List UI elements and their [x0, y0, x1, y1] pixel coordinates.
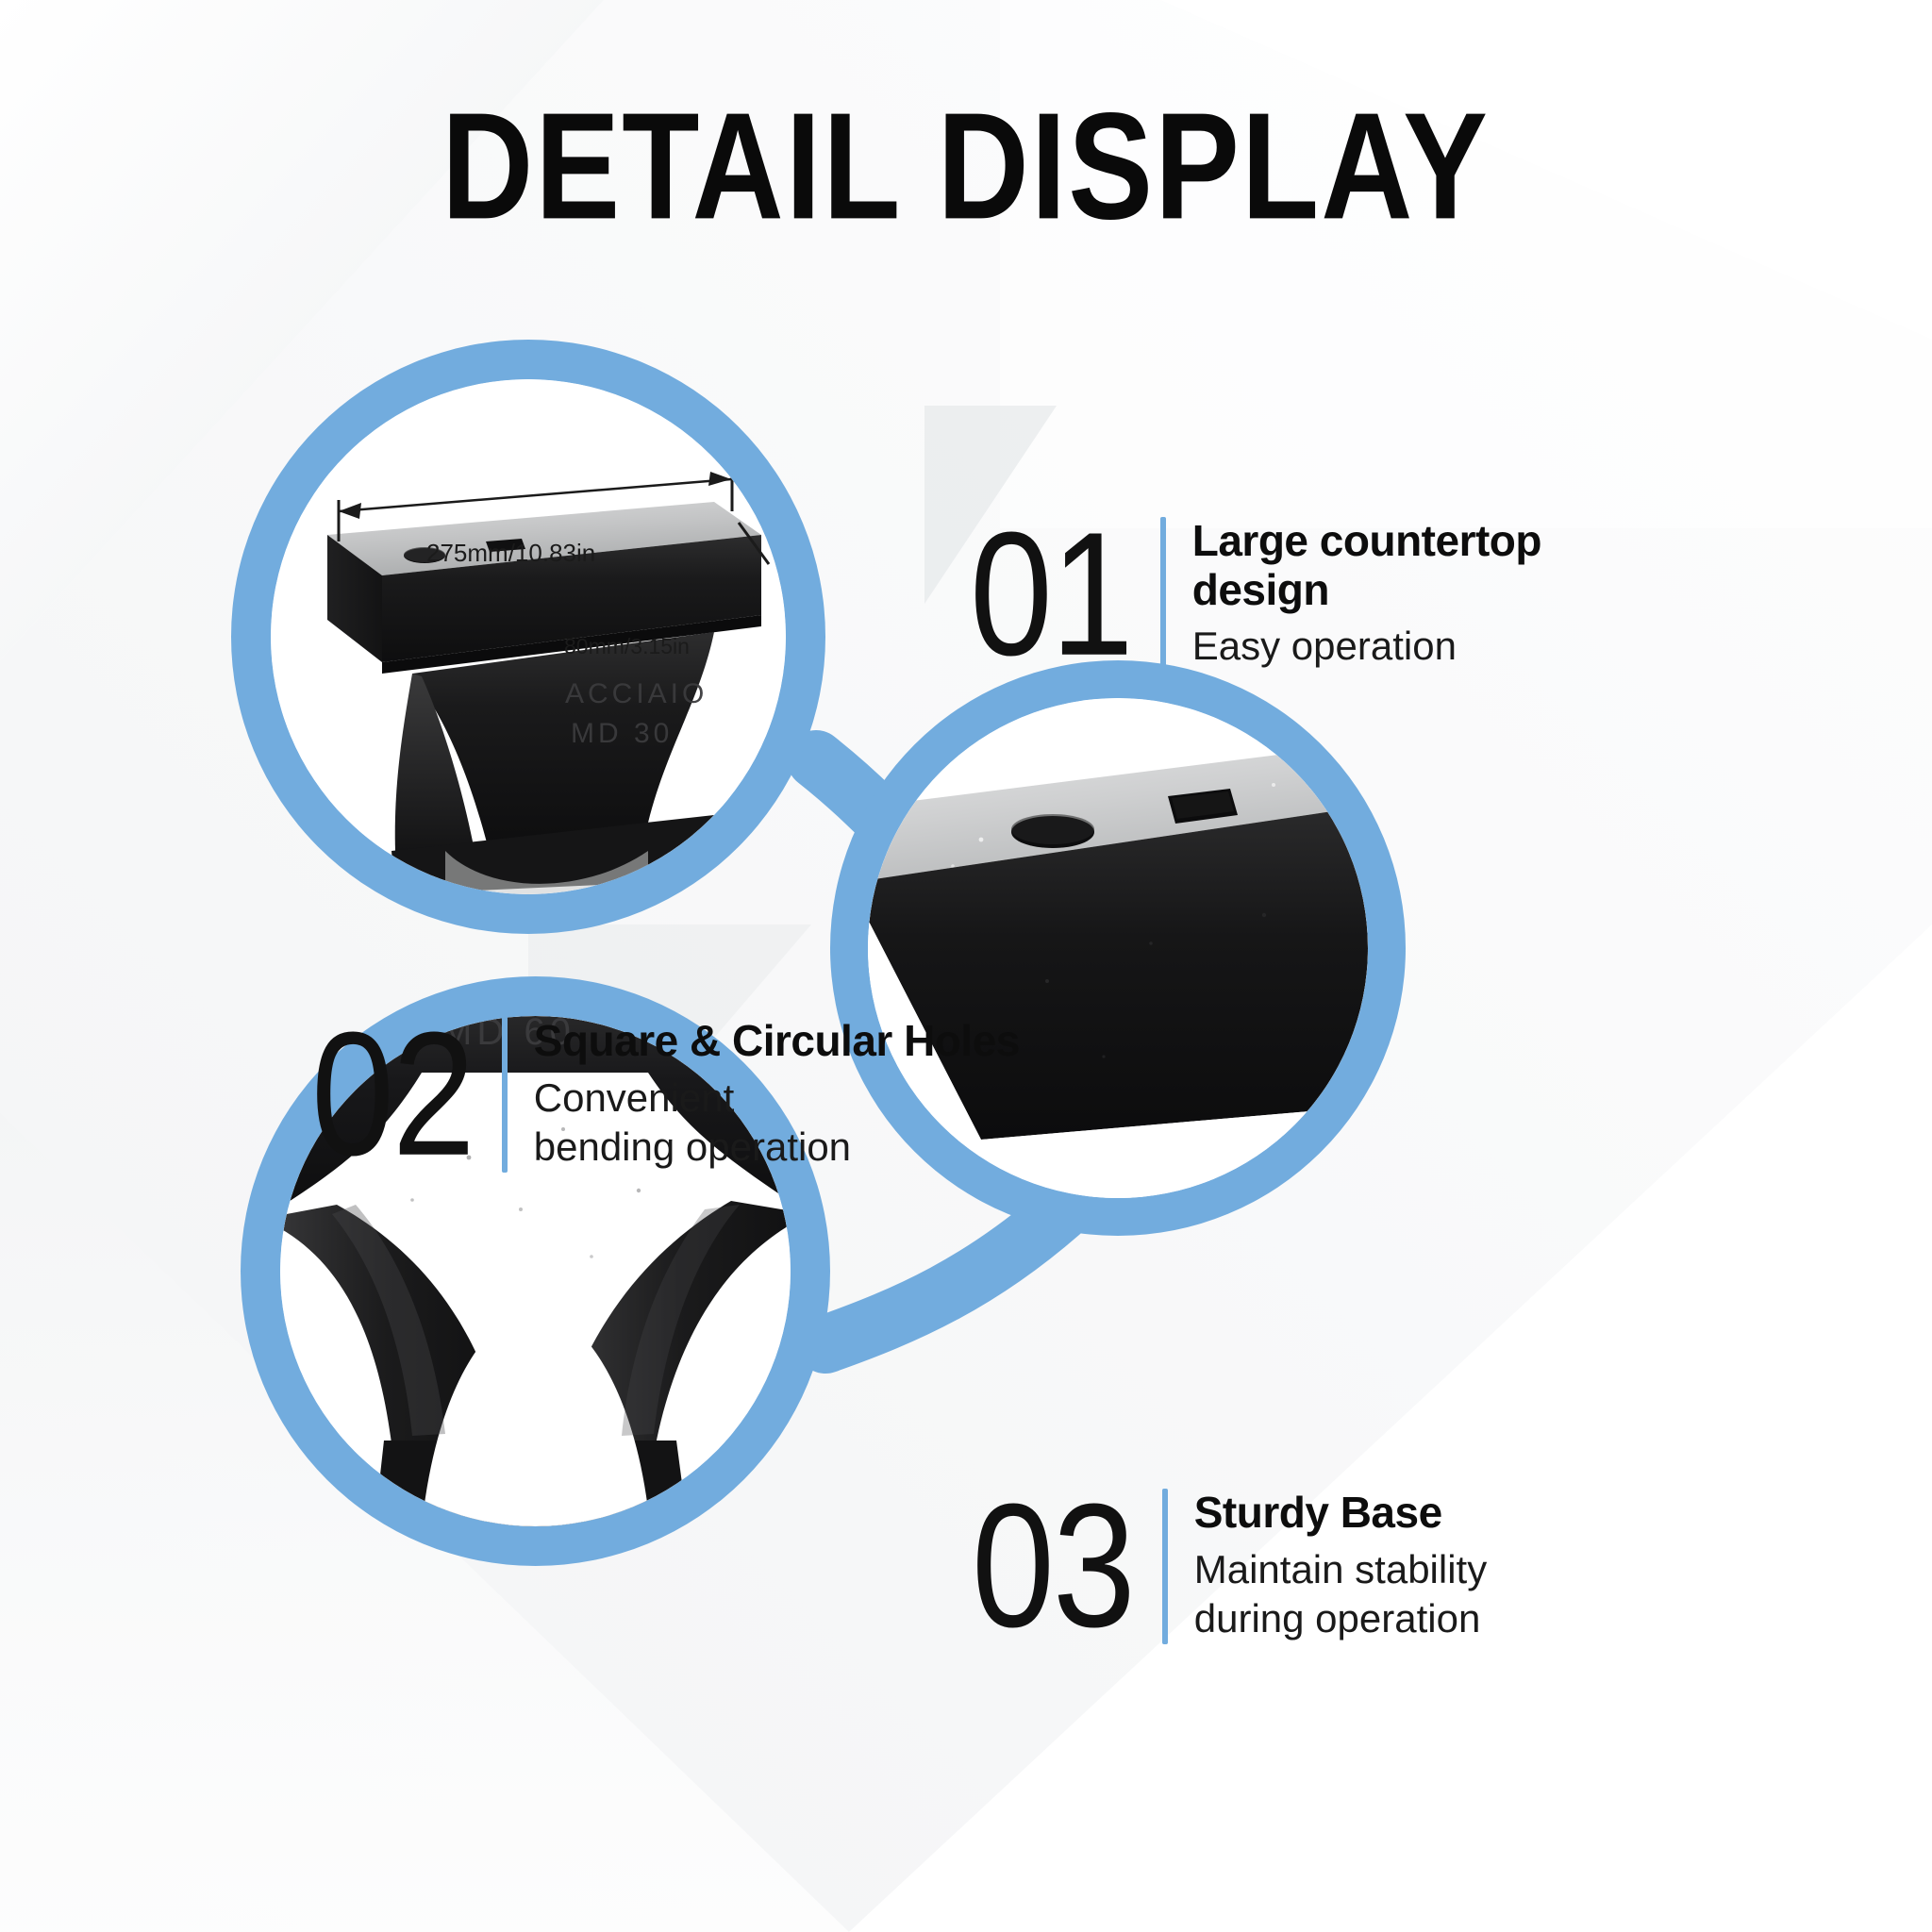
- feature-subtext-03: Maintain stability during operation: [1194, 1545, 1487, 1644]
- feature-03: 03 Sturdy Base Maintain stability during…: [972, 1489, 1487, 1644]
- feature-heading-01: Large countertop design: [1192, 517, 1541, 614]
- feature-divider-01: [1160, 517, 1166, 672]
- feature-number-01: 01: [970, 510, 1132, 677]
- feature-02: 02 Square & Circular Holes Convenient be…: [311, 1017, 1020, 1173]
- feature-01: 01 Large countertop design Easy operatio…: [970, 517, 1541, 672]
- dimension-depth-label: 80mm/3.15in: [564, 634, 690, 659]
- feature-subtext-01: Easy operation: [1192, 622, 1541, 672]
- feature-heading-03: Sturdy Base: [1194, 1489, 1487, 1538]
- photo-1: ACCIAIO MD 30: [271, 379, 786, 894]
- page-title-wrap: DETAIL DISPLAY: [0, 91, 1932, 215]
- feature-number-03: 03: [972, 1483, 1134, 1650]
- feature-subtext-02: Convenient bending operation: [534, 1074, 1020, 1173]
- feature-divider-03: [1162, 1489, 1168, 1644]
- feature-heading-02: Square & Circular Holes: [534, 1017, 1020, 1066]
- feature-number-02: 02: [311, 1011, 474, 1178]
- page-title: DETAIL DISPLAY: [442, 91, 1491, 242]
- feature-divider-02: [502, 1017, 508, 1173]
- embossed-model-text: MD 30: [571, 718, 673, 749]
- embossed-brand-text: ACCIAIO: [565, 678, 708, 709]
- dimension-width-label: 275mm/10.83in: [426, 539, 595, 568]
